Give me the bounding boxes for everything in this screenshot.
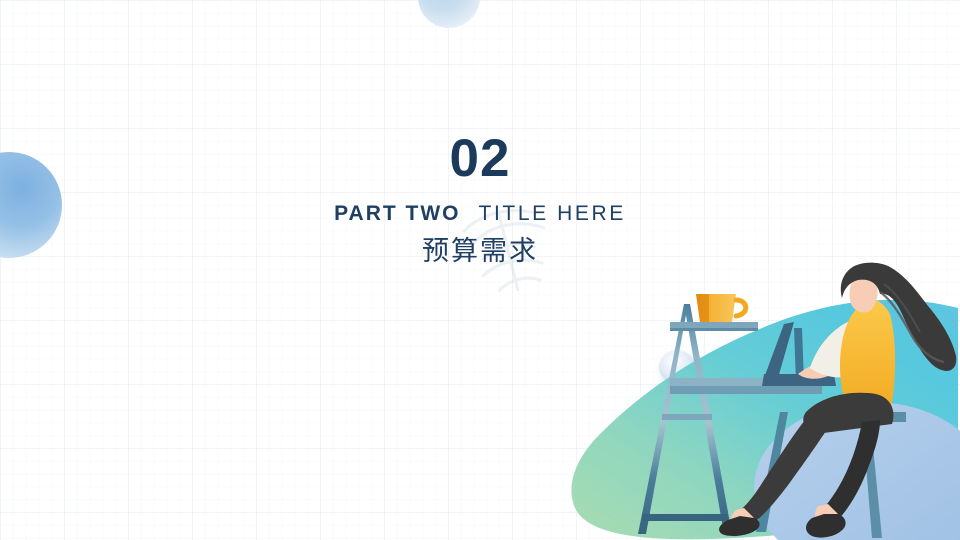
slide-canvas: 02 PART TWOTITLE HERE 预算需求 xyxy=(0,0,960,540)
woman-working-on-laptop-illustration xyxy=(566,262,960,540)
decorative-blue-circle-top-icon xyxy=(418,0,480,28)
subtitle-english-light: TITLE HERE xyxy=(479,202,626,225)
shelf xyxy=(670,322,758,331)
part-number: 02 xyxy=(0,132,960,185)
coffee-mug xyxy=(696,294,746,322)
subtitle-english: PART TWOTITLE HERE xyxy=(0,201,960,226)
subtitle-chinese: 预算需求 xyxy=(0,235,960,269)
title-block: 02 PART TWOTITLE HERE 预算需求 xyxy=(0,132,960,269)
subtitle-english-strong: PART TWO xyxy=(334,202,460,225)
